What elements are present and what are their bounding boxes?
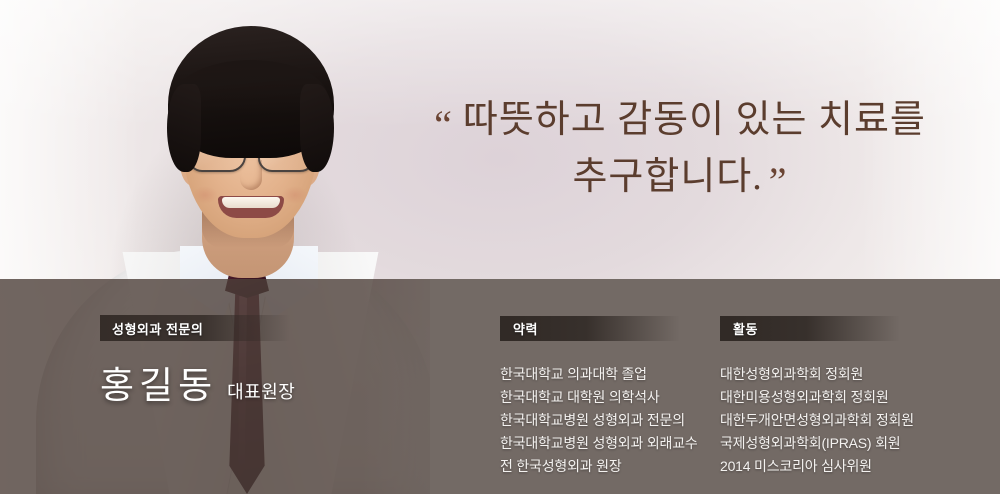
list-item: 대한두개안면성형외과학회 정회원 [720,409,950,432]
list-item: 전 한국성형외과 원장 [500,455,700,478]
list-item: 한국대학교 대학원 의학석사 [500,386,700,409]
list-item: 대한미용성형외과학회 정회원 [720,386,950,409]
headline-quote: “따뜻하고 감동이 있는 치료를 추구합니다.” [400,92,960,206]
career-list: 한국대학교 의과대학 졸업 한국대학교 대학원 의학석사 한국대학교병원 성형외… [500,363,700,478]
teeth [222,197,280,208]
activities-heading-label: 활동 [720,319,758,338]
quote-open-mark: “ [434,102,453,147]
list-item: 국제성형외과학회(IPRAS) 회원 [720,432,950,455]
career-heading-label: 약력 [500,319,538,338]
doctor-identity: 성형외과 전문의 홍길동 대표원장 [100,315,430,409]
quote-text-line-1: 따뜻하고 감동이 있는 치료를 [463,99,926,141]
list-item: 한국대학교 의과대학 졸업 [500,363,700,386]
quote-line-1: “따뜻하고 감동이 있는 치료를 [400,92,960,149]
specialty-band: 성형외과 전문의 [100,315,290,341]
career-column: 약력 한국대학교 의과대학 졸업 한국대학교 대학원 의학석사 한국대학교병원 … [500,316,700,478]
cheek-left [192,186,218,204]
list-item: 한국대학교병원 성형외과 외래교수 [500,432,700,455]
smiling-mouth [218,196,284,218]
activities-heading-band: 활동 [720,316,900,341]
doctor-name-row: 홍길동 대표원장 [100,355,430,409]
cheek-right [282,186,308,204]
list-item: 대한성형외과학회 정회원 [720,363,950,386]
activities-list: 대한성형외과학회 정회원 대한미용성형외과학회 정회원 대한두개안면성형외과학회… [720,363,950,478]
career-heading-band: 약력 [500,316,680,341]
quote-close-mark: ” [769,159,788,204]
doctor-name: 홍길동 [100,355,217,409]
quote-text-line-2: 추구합니다. [572,156,762,198]
list-item: 한국대학교병원 성형외과 전문의 [500,409,700,432]
list-item: 2014 미스코리아 심사위원 [720,455,950,478]
doctor-profile-banner: “따뜻하고 감동이 있는 치료를 추구합니다.” 성형외과 전문의 홍길동 대표… [0,0,1000,494]
activities-column: 활동 대한성형외과학회 정회원 대한미용성형외과학회 정회원 대한두개안면성형외… [720,316,950,478]
doctor-position: 대표원장 [227,378,295,404]
specialty-label: 성형외과 전문의 [100,319,203,338]
hair-side-right [300,84,334,172]
hair-side-left [167,84,201,172]
quote-line-2: 추구합니다.” [400,149,960,206]
